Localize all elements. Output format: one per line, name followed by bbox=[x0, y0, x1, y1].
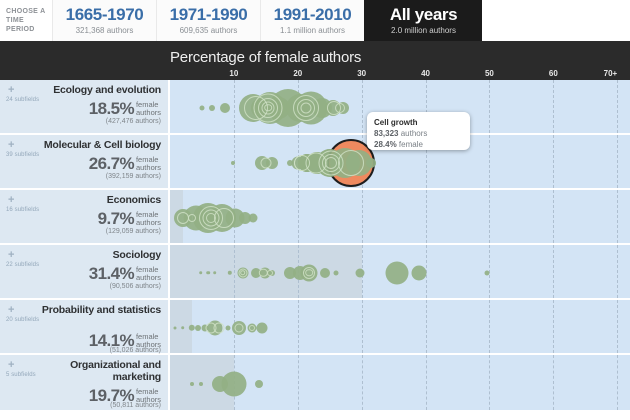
x-axis-ticks: 10203040506070+ bbox=[170, 69, 630, 80]
time-period-sub-2: 1.1 million authors bbox=[261, 25, 364, 36]
field-row[interactable]: +16 subfieldsEconomics9.7%femaleauthors(… bbox=[0, 190, 630, 245]
female-percentage-stat: 31.4%femaleauthors bbox=[21, 264, 161, 284]
time-period-sub-3: 2.0 million authors bbox=[365, 25, 482, 36]
gridline bbox=[426, 300, 427, 353]
gridline bbox=[617, 245, 618, 298]
time-period-tab-1[interactable]: 1971-1990 609,635 authors bbox=[156, 0, 260, 41]
subfield-bubble[interactable] bbox=[225, 325, 230, 330]
subfield-bubble[interactable] bbox=[209, 105, 215, 111]
female-authors-label: femaleauthors bbox=[134, 264, 161, 282]
field-row[interactable]: +22 subfieldsSociology31.4%femaleauthors… bbox=[0, 245, 630, 300]
subfield-bubble[interactable] bbox=[190, 382, 194, 386]
field-row[interactable]: +20 subfieldsProbability and statistics1… bbox=[0, 300, 630, 355]
field-row[interactable]: +5 subfieldsOrganizational and marketing… bbox=[0, 355, 630, 412]
tooltip-female-value: 28.4% bbox=[374, 140, 397, 149]
subfield-bubble-outline[interactable] bbox=[305, 269, 313, 277]
field-name: Sociology bbox=[31, 249, 161, 261]
subfield-bubble[interactable] bbox=[199, 271, 203, 275]
x-tick-50: 50 bbox=[485, 69, 494, 78]
gridline bbox=[362, 80, 363, 133]
female-authors-label: femaleauthors bbox=[134, 99, 161, 117]
subfield-bubble[interactable] bbox=[249, 213, 258, 222]
subfield-bubble[interactable] bbox=[189, 324, 195, 330]
x-tick-40: 40 bbox=[421, 69, 430, 78]
gridline bbox=[489, 300, 490, 353]
gridline bbox=[298, 190, 299, 243]
field-row-plot[interactable] bbox=[170, 190, 630, 243]
time-period-tab-0[interactable]: 1665-1970 321,368 authors bbox=[52, 0, 156, 41]
tooltip-authors-row: 83,323 authors bbox=[374, 128, 463, 139]
tooltip-female-row: 28.4% female bbox=[374, 139, 463, 150]
choose-time-period-label: CHOOSE A TIME PERIOD bbox=[0, 0, 52, 41]
gridline bbox=[489, 135, 490, 188]
choose-label-line2: TIME PERIOD bbox=[6, 16, 52, 34]
gridline bbox=[489, 245, 490, 298]
subfield-bubble[interactable] bbox=[484, 270, 489, 275]
expand-plus-icon[interactable]: + bbox=[8, 86, 14, 95]
subfield-bubble-outline[interactable] bbox=[260, 157, 271, 168]
tooltip-female-label: female bbox=[399, 140, 423, 149]
gridline bbox=[553, 135, 554, 188]
gridline bbox=[553, 80, 554, 133]
subfield-bubble-outline[interactable] bbox=[213, 322, 224, 333]
tooltip-authors-value: 83,323 bbox=[374, 129, 398, 138]
expand-plus-icon[interactable]: + bbox=[8, 251, 14, 260]
field-row-label-panel: +39 subfieldsMolecular & Cell biology26.… bbox=[0, 135, 170, 188]
x-tick-20: 20 bbox=[293, 69, 302, 78]
subfield-count: 20 subfields bbox=[6, 317, 39, 323]
subfield-bubble[interactable] bbox=[199, 105, 204, 110]
subfield-bubble[interactable] bbox=[207, 271, 211, 275]
axis-header: Percentage of female authors 10203040506… bbox=[0, 45, 630, 80]
x-tick-60: 60 bbox=[549, 69, 558, 78]
subfield-bubble[interactable] bbox=[174, 326, 177, 329]
subfield-bubble[interactable] bbox=[412, 265, 427, 280]
subfield-bubble-outline[interactable] bbox=[338, 150, 364, 176]
subfield-bubble[interactable] bbox=[257, 322, 268, 333]
choose-label-line1: CHOOSE A bbox=[6, 7, 52, 16]
subfield-bubble[interactable] bbox=[181, 326, 185, 330]
time-period-tab-2[interactable]: 1991-2010 1.1 million authors bbox=[260, 0, 364, 41]
subfield-bubble[interactable] bbox=[386, 261, 409, 284]
gridline bbox=[362, 355, 363, 410]
gridline bbox=[362, 300, 363, 353]
field-row[interactable]: +39 subfieldsMolecular & Cell biology26.… bbox=[0, 135, 630, 190]
subfield-bubble[interactable] bbox=[366, 158, 376, 168]
subfield-bubble-outline[interactable] bbox=[249, 325, 255, 331]
field-name: Probability and statistics bbox=[31, 304, 161, 316]
female-percentage-value: 18.5% bbox=[89, 99, 134, 118]
gridline bbox=[617, 80, 618, 133]
gridline bbox=[617, 135, 618, 188]
gridline bbox=[617, 300, 618, 353]
gridline bbox=[362, 190, 363, 243]
female-authors-label: femaleauthors bbox=[134, 154, 161, 172]
gridline bbox=[553, 190, 554, 243]
subfield-bubble-outline[interactable] bbox=[214, 208, 234, 228]
gridline bbox=[426, 190, 427, 243]
subfield-bubble-outline[interactable] bbox=[188, 214, 196, 222]
field-name: Economics bbox=[31, 194, 161, 206]
subfield-bubble[interactable] bbox=[231, 161, 235, 165]
gridline bbox=[553, 300, 554, 353]
female-authors-label: femaleauthors bbox=[134, 209, 161, 227]
subfield-bubble[interactable] bbox=[220, 103, 230, 113]
expand-plus-icon[interactable]: + bbox=[8, 196, 14, 205]
gridline bbox=[617, 190, 618, 243]
visualization-app: CHOOSE A TIME PERIOD 1665-1970 321,368 a… bbox=[0, 0, 630, 420]
gridline bbox=[489, 355, 490, 410]
field-row-label-panel: +5 subfieldsOrganizational and marketing… bbox=[0, 355, 170, 410]
time-period-title-3: All years bbox=[365, 4, 482, 25]
subfield-bubble-outline[interactable] bbox=[267, 270, 273, 276]
subfield-bubble[interactable] bbox=[199, 382, 203, 386]
tooltip-authors-label: authors bbox=[401, 129, 428, 138]
female-percentage-value: 31.4% bbox=[89, 264, 134, 283]
gridline bbox=[426, 355, 427, 410]
female-percentage-value: 26.7% bbox=[89, 154, 134, 173]
total-authors-count: (129,059 authors) bbox=[21, 228, 161, 235]
subfield-bubble-outline[interactable] bbox=[325, 157, 337, 169]
subfield-bubble[interactable] bbox=[356, 268, 365, 277]
field-name: Ecology and evolution bbox=[31, 84, 161, 96]
subfield-bubble-outline[interactable] bbox=[235, 323, 244, 332]
female-percentage-stat: 26.7%femaleauthors bbox=[21, 154, 161, 174]
female-percentage-stat: 18.5%femaleauthors bbox=[21, 99, 161, 119]
field-row-plot[interactable] bbox=[170, 300, 630, 353]
x-tick-10: 10 bbox=[229, 69, 238, 78]
total-authors-count: (51,026 authors) bbox=[21, 347, 161, 354]
subfield-bubble[interactable] bbox=[213, 271, 217, 275]
gridline bbox=[489, 80, 490, 133]
time-period-title-1: 1971-1990 bbox=[157, 4, 260, 25]
field-name: Molecular & Cell biology bbox=[31, 139, 161, 151]
field-row-label-panel: +22 subfieldsSociology31.4%femaleauthors… bbox=[0, 245, 170, 298]
female-percentage-value: 9.7% bbox=[98, 209, 134, 228]
gridline bbox=[234, 245, 235, 298]
subfield-bubble[interactable] bbox=[320, 268, 330, 278]
subfield-bubble-outline[interactable] bbox=[240, 270, 246, 276]
bubble-tooltip: Cell growth 83,323 authors 28.4% female bbox=[367, 112, 470, 150]
gridline bbox=[234, 80, 235, 133]
total-authors-count: (90,506 authors) bbox=[21, 283, 161, 290]
expand-plus-icon[interactable]: + bbox=[8, 306, 14, 315]
subfield-bubble[interactable] bbox=[221, 371, 246, 396]
subfield-bubble-outline[interactable] bbox=[301, 102, 312, 113]
field-row-label-panel: +16 subfieldsEconomics9.7%femaleauthors(… bbox=[0, 190, 170, 243]
gridline bbox=[298, 355, 299, 410]
total-authors-count: (392,159 authors) bbox=[21, 173, 161, 180]
time-period-tab-3[interactable]: All years 2.0 million authors bbox=[364, 0, 482, 41]
expand-plus-icon[interactable]: + bbox=[8, 361, 14, 370]
field-row-label-panel: +20 subfieldsProbability and statistics1… bbox=[0, 300, 170, 353]
gridline bbox=[298, 300, 299, 353]
total-authors-count: (50,811 authors) bbox=[21, 402, 161, 409]
gridline bbox=[489, 190, 490, 243]
x-tick-30: 30 bbox=[357, 69, 366, 78]
total-authors-count: (427,476 authors) bbox=[21, 118, 161, 125]
gridline bbox=[617, 355, 618, 410]
field-row-plot[interactable] bbox=[170, 245, 630, 298]
subfield-bubble-outline[interactable] bbox=[265, 104, 273, 112]
subfield-bubble[interactable] bbox=[334, 270, 339, 275]
field-row-plot[interactable] bbox=[170, 355, 630, 410]
time-period-title-2: 1991-2010 bbox=[261, 4, 364, 25]
field-row-label-panel: +24 subfieldsEcology and evolution18.5%f… bbox=[0, 80, 170, 133]
female-percentage-stat: 9.7%femaleauthors bbox=[21, 209, 161, 229]
tooltip-title: Cell growth bbox=[374, 117, 463, 128]
field-row[interactable]: +24 subfieldsEcology and evolution18.5%f… bbox=[0, 80, 630, 135]
gridline bbox=[553, 355, 554, 410]
subfield-bubble-outline[interactable] bbox=[335, 103, 345, 113]
time-period-sub-1: 609,635 authors bbox=[157, 25, 260, 36]
field-name: Organizational and marketing bbox=[31, 359, 161, 383]
chart-title: Percentage of female authors bbox=[170, 49, 361, 66]
time-period-title-0: 1665-1970 bbox=[53, 4, 156, 25]
field-rows-container: +24 subfieldsEcology and evolution18.5%f… bbox=[0, 80, 630, 420]
time-period-bar: CHOOSE A TIME PERIOD 1665-1970 321,368 a… bbox=[0, 0, 630, 41]
subfield-bubble[interactable] bbox=[255, 380, 263, 388]
x-tick-70+: 70+ bbox=[604, 69, 618, 78]
expand-plus-icon[interactable]: + bbox=[8, 141, 14, 150]
gridline bbox=[553, 245, 554, 298]
time-period-sub-0: 321,368 authors bbox=[53, 25, 156, 36]
